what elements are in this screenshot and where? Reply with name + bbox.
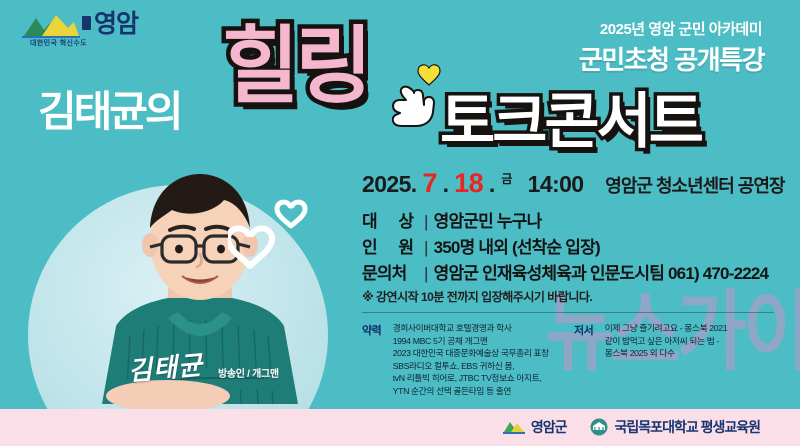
event-time: 14:00 <box>528 171 584 197</box>
capacity-label: 인 원 <box>362 233 424 258</box>
mountain-icon <box>22 12 80 38</box>
row-separator: | <box>424 238 428 257</box>
row-separator: | <box>424 212 428 231</box>
title-word-talkconcert: 토크콘서트 <box>440 92 701 152</box>
footer-logo-mokpo: 국립목포대학교 평생교육원 <box>589 417 760 437</box>
info-row-capacity: 인 원|350명 내외 (선착순 입장) <box>362 233 600 258</box>
books-list: 이제 그냥 즐기려고요 - 몽스북 2021 같이 밥먹고 싶은 아저씨 되는 … <box>605 322 728 360</box>
county-logo-name: 영암 <box>94 12 138 37</box>
heart-outline-icon <box>228 196 318 276</box>
career-item: SBS라디오 컬투쇼, EBS 귀하신 몸, <box>393 360 549 373</box>
county-logo-tagline: 대한민국 혁신수도 <box>30 38 87 48</box>
title-presenter: 김태균의 <box>38 78 181 139</box>
footer-logos: 영암군 국립목포대학교 평생교육원 <box>503 417 760 437</box>
entry-note: ※ 강연시작 10분 전까지 입장해주시기 바랍니다. <box>362 288 592 305</box>
career-item: YTN 순간의 선택 골든타임 등 출연 <box>393 385 549 398</box>
contact-label: 문의처 <box>362 259 424 284</box>
career-list: 경희사이버대학교 호텔경영과 학사 1994 MBC 5기 공채 개그맨 202… <box>393 322 549 398</box>
footer-logo-yeongam-text: 영암군 <box>531 417 567 437</box>
date-dot-1: . <box>443 171 449 197</box>
title-word-healing: 힐링 <box>222 24 369 108</box>
date-dot-2: . <box>489 171 495 197</box>
capacity-value: 350명 내외 (선착순 입장) <box>434 238 600 257</box>
career-item: 경희사이버대학교 호텔경영과 학사 <box>393 322 549 335</box>
career-item: 2023 대한민국 대중문화예술상 국무총리 표창 <box>393 347 549 360</box>
mountain-icon <box>503 418 525 436</box>
event-day-of-week: 금 <box>501 172 511 186</box>
info-row-contact: 문의처|영암군 인재육성체육과 인문도시팀 061) 470-2224 <box>362 259 768 284</box>
event-day: 18 <box>454 168 483 198</box>
signature-role: 방송인 / 개그맨 <box>218 365 279 380</box>
footer-bar: 영암군 국립목포대학교 평생교육원 <box>0 409 800 446</box>
event-year: 2025. <box>362 171 417 197</box>
footer-logo-mokpo-text: 국립목포대학교 평생교육원 <box>615 417 760 437</box>
career-item: 1994 MBC 5기 공채 개그맨 <box>393 335 549 348</box>
event-poster: 뉴스가이24 대한민국 혁신수도 영암 2025년 영암 군민 아카데미 군민초… <box>0 0 800 446</box>
event-venue: 영암군 청소년센터 공연장 <box>605 176 784 196</box>
contact-value: 영암군 인재육성체육과 인문도시팀 061) 470-2224 <box>434 264 769 283</box>
bio-career-column: 약력 경희사이버대학교 호텔경영과 학사 1994 MBC 5기 공채 개그맨 … <box>362 322 572 398</box>
lecture-subhead: 군민초청 공개특강 <box>579 40 764 77</box>
county-logo-mark <box>82 16 91 30</box>
book-item: 몽스북 2025 외 다수 <box>605 347 728 360</box>
target-label: 대 상 <box>362 207 424 232</box>
footer-logo-yeongam: 영암군 <box>503 417 567 437</box>
info-row-target: 대 상|영암군민 누구나 <box>362 207 541 232</box>
books-label: 저서 <box>574 322 593 338</box>
row-separator: | <box>424 264 428 283</box>
book-item: 이제 그냥 즐기려고요 - 몽스북 2021 <box>605 322 728 335</box>
event-month: 7 <box>422 168 436 198</box>
university-emblem-icon <box>589 418 609 436</box>
academy-kicker: 2025년 영암 군민 아카데미 <box>600 18 762 39</box>
event-datetime: 2025. 7 . 18 . 금 14:00 영암군 청소년센터 공연장 <box>362 168 784 199</box>
book-item: 같이 밥먹고 싶은 아저씨 되는 법 - <box>605 335 728 348</box>
signature-name: 김태균 <box>127 345 205 388</box>
career-label: 약력 <box>362 322 381 338</box>
yeongam-county-logo: 대한민국 혁신수도 영암 <box>22 8 162 52</box>
target-value: 영암군민 누구나 <box>434 212 542 231</box>
career-item: tvN 리틀빅 히어로, JTBC TV정보쇼 아지트, <box>393 372 549 385</box>
section-divider <box>362 312 774 313</box>
bio-books-column: 저서 이제 그냥 즐기려고요 - 몽스북 2021 같이 밥먹고 싶은 아저씨 … <box>574 322 782 360</box>
